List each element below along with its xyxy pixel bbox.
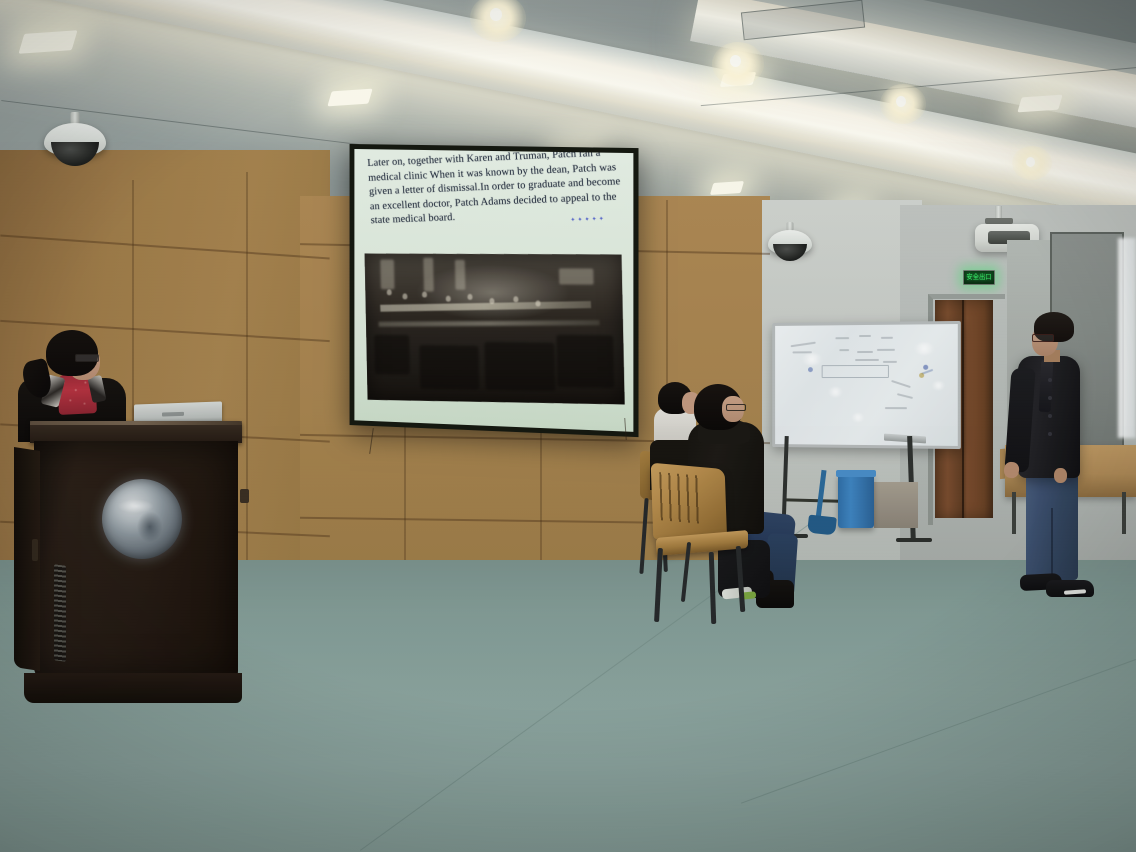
- podium-top-edge: [30, 421, 242, 425]
- glasses-icon: [75, 354, 99, 362]
- whiteboard-writing: [791, 342, 816, 348]
- photo-crowd: [419, 345, 479, 390]
- whiteboard-writing: [881, 337, 893, 339]
- door-seam: [962, 300, 964, 518]
- man-shoe: [1046, 580, 1094, 597]
- whiteboard-writing: [891, 380, 911, 388]
- laptop-logo: [162, 412, 184, 417]
- podium: [14, 421, 242, 705]
- photo-person: [446, 296, 451, 302]
- whiteboard[interactable]: [772, 321, 961, 449]
- chair-front[interactable]: [634, 466, 784, 626]
- whiteboard-diagram-arrow: [822, 365, 889, 378]
- screen-surface: Later on, together with Karen and Truman…: [354, 149, 633, 432]
- podium-knob[interactable]: [240, 489, 249, 503]
- classroom-photo-scene: 安全出口 Later on, together with Karen and T…: [0, 0, 1136, 852]
- whiteboard-magnet[interactable]: [923, 365, 928, 370]
- ceiling-panel-light: [327, 89, 372, 107]
- whiteboard-writing: [835, 337, 849, 339]
- podium-emblem-detail: [110, 487, 174, 551]
- photo-crowd: [556, 335, 614, 388]
- podium-base: [24, 673, 242, 703]
- chair-leg: [654, 548, 663, 622]
- whiteboard-foot: [896, 538, 932, 542]
- slide-decoration: ✦✦✦✦✦: [570, 215, 606, 223]
- slide-photo: [365, 254, 625, 405]
- whiteboard-magnet[interactable]: [919, 373, 924, 378]
- photo-balcony-rail: [381, 301, 592, 312]
- photo-person: [467, 294, 472, 300]
- wall-seam-vertical: [246, 172, 248, 602]
- photo-window: [559, 268, 594, 284]
- coat-button: [1048, 432, 1052, 436]
- whiteboard-writing: [857, 351, 873, 353]
- chair-leg: [709, 552, 717, 624]
- whiteboard-writing: [859, 335, 871, 337]
- man-hand: [1054, 468, 1067, 483]
- ceiling-spot-light-core: [1026, 157, 1035, 167]
- whiteboard-writing: [883, 361, 897, 363]
- photo-person: [387, 289, 392, 295]
- table-leg: [1122, 492, 1126, 534]
- projection-screen: Later on, together with Karen and Truman…: [350, 144, 639, 437]
- photo-crowd: [484, 342, 555, 391]
- whiteboard-writing: [897, 393, 913, 399]
- bin-lid: [836, 470, 876, 477]
- photo-balcony-rail: [378, 320, 599, 327]
- glasses-icon: [1032, 334, 1054, 342]
- whiteboard-glare: [931, 381, 945, 390]
- podium-slot: [32, 539, 38, 561]
- whiteboard-writing: [877, 349, 895, 351]
- ceiling-spot-light-core: [730, 55, 741, 67]
- whiteboard-glare: [828, 387, 844, 397]
- photo-window: [423, 258, 434, 292]
- whiteboard-writing: [839, 349, 849, 351]
- whiteboard-glare: [913, 342, 935, 354]
- coat-button: [1048, 396, 1052, 400]
- man-hand: [1003, 461, 1020, 479]
- photo-window: [380, 260, 394, 290]
- ceiling-panel-light: [18, 30, 77, 54]
- ceiling-spot-light-core: [896, 96, 906, 107]
- standing-observer: [1008, 312, 1103, 604]
- security-camera-icon: [768, 222, 812, 264]
- ceiling-spot-light-core: [490, 8, 502, 21]
- camera-lens: [773, 244, 806, 261]
- chair-leg: [736, 546, 746, 612]
- photo-person: [535, 300, 540, 306]
- exit-sign-label: 安全出口: [966, 274, 991, 281]
- chair-backrest-slots: [659, 472, 703, 524]
- security-camera-icon: [44, 112, 106, 168]
- mop-head: [807, 515, 837, 536]
- presenter-hair: [46, 330, 98, 376]
- whiteboard-writing: [885, 407, 907, 409]
- glasses-icon: [726, 404, 746, 411]
- photo-person: [422, 291, 427, 297]
- photo-window: [455, 260, 466, 290]
- photo-crowd: [374, 335, 410, 375]
- man-jeans-seam: [1051, 508, 1053, 578]
- whiteboard-magnet[interactable]: [808, 367, 813, 372]
- photo-person: [513, 296, 518, 302]
- whiteboard-glare: [851, 413, 865, 422]
- whiteboard-glare: [800, 353, 823, 365]
- exit-sign: 安全出口: [963, 270, 995, 285]
- window-light: [1118, 238, 1136, 438]
- camera-lens: [51, 142, 98, 166]
- photo-person: [489, 298, 494, 304]
- coat-button: [1048, 378, 1052, 382]
- podium-vent-grille: [54, 564, 66, 661]
- ceiling-panel-light: [710, 181, 744, 195]
- cardboard-box: [874, 482, 918, 528]
- photo-person: [402, 293, 407, 299]
- ceiling-panel-light: [1017, 95, 1062, 113]
- coat-button: [1048, 414, 1052, 418]
- whiteboard-writing: [855, 359, 879, 361]
- waste-bin: [838, 474, 874, 528]
